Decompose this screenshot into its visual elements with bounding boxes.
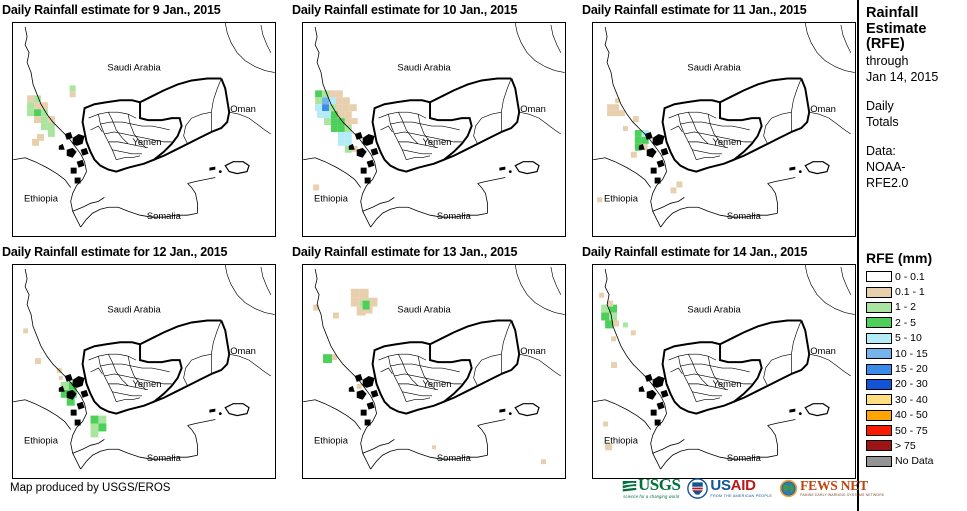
map-frame[interactable]: Saudi Arabia Oman Yemen Ethiopia Somalia xyxy=(592,22,856,237)
legend-swatch xyxy=(866,287,892,298)
label-somalia: Somalia xyxy=(727,452,762,463)
partner-logos: USGS science for a changing world USAID … xyxy=(622,471,884,505)
usaid-logo[interactable]: USAID FROM THE AMERICAN PEOPLE xyxy=(687,473,772,503)
label-oman: Oman xyxy=(230,345,256,356)
legend-label: No Data xyxy=(895,455,934,467)
map-frame[interactable]: Saudi Arabia Oman Yemen Ethiopia Somalia xyxy=(12,22,276,237)
legend-title: RFE (mm) xyxy=(866,250,962,266)
fews-wordmark: FEWS NET xyxy=(800,479,884,492)
admin-boundaries xyxy=(89,265,275,402)
label-saudi-arabia: Saudi Arabia xyxy=(397,62,451,73)
legend-swatch xyxy=(866,379,892,390)
legend-label: > 75 xyxy=(895,440,916,452)
national-borders xyxy=(373,78,520,171)
legend-swatch xyxy=(866,333,892,344)
info-panel: Rainfall Estimate (RFE) through Jan 14, … xyxy=(866,6,962,191)
legend-label: 5 - 10 xyxy=(895,332,922,344)
legend-swatch xyxy=(866,317,892,328)
info-title-line3: (RFE) xyxy=(866,37,962,53)
globe-icon xyxy=(779,479,798,498)
map-canvas: Saudi Arabia Oman Yemen Ethiopia Somalia xyxy=(593,265,855,478)
label-somalia: Somalia xyxy=(437,210,472,221)
info-through: through xyxy=(866,53,962,69)
info-title-line1: Rainfall xyxy=(866,6,962,22)
panel-title: Daily Rainfall estimate for 14 Jan., 201… xyxy=(580,242,862,262)
legend-item[interactable]: 20 - 30 xyxy=(866,377,962,392)
national-borders xyxy=(83,78,230,171)
map-panel-3: Daily Rainfall estimate for 11 Jan., 201… xyxy=(580,0,862,240)
legend-label: 2 - 5 xyxy=(895,317,916,329)
label-oman: Oman xyxy=(810,103,836,114)
legend-label: 1 - 2 xyxy=(895,301,916,313)
info-totals-line2: Totals xyxy=(866,114,962,130)
legend-swatch xyxy=(866,364,892,375)
legend-item[interactable]: 15 - 20 xyxy=(866,361,962,376)
label-saudi-arabia: Saudi Arabia xyxy=(687,62,741,73)
fews-net-logo[interactable]: FEWS NET FAMINE EARLY WARNING SYSTEMS NE… xyxy=(779,473,884,503)
label-oman: Oman xyxy=(520,103,546,114)
map-canvas: Saudi Arabia Oman Yemen Ethiopia Somalia xyxy=(13,265,275,478)
legend-label: 50 - 75 xyxy=(895,425,928,437)
panel-title: Daily Rainfall estimate for 13 Jan., 201… xyxy=(290,242,572,262)
map-frame[interactable]: Saudi Arabia Oman Yemen Ethiopia Somalia xyxy=(302,264,566,479)
legend-item[interactable]: 0.1 - 1 xyxy=(866,284,962,299)
info-data-line3: RFE2.0 xyxy=(866,175,962,191)
legend: RFE (mm) 0 - 0.10.1 - 11 - 22 - 55 - 101… xyxy=(866,250,962,469)
footer-credit: Map produced by USGS/EROS xyxy=(10,482,170,494)
label-yemen: Yemen xyxy=(422,136,451,147)
admin-boundaries xyxy=(379,23,565,160)
islands xyxy=(499,404,539,416)
info-data-line1: Data: xyxy=(866,143,962,159)
legend-item[interactable]: 5 - 10 xyxy=(866,331,962,346)
rainfall-cells xyxy=(313,289,546,464)
legend-label: 20 - 30 xyxy=(895,378,928,390)
info-through-date: Jan 14, 2015 xyxy=(866,69,962,85)
admin-boundaries xyxy=(379,265,565,402)
legend-item[interactable]: 0 - 0.1 xyxy=(866,269,962,284)
panel-title: Daily Rainfall estimate for 10 Jan., 201… xyxy=(290,0,572,20)
label-yemen: Yemen xyxy=(422,378,451,389)
map-frame[interactable]: Saudi Arabia Oman Yemen Ethiopia Somalia xyxy=(12,264,276,479)
legend-item[interactable]: 10 - 15 xyxy=(866,346,962,361)
label-somalia: Somalia xyxy=(727,210,762,221)
panel-title: Daily Rainfall estimate for 12 Jan., 201… xyxy=(0,242,282,262)
legend-label: 40 - 50 xyxy=(895,409,928,421)
map-frame[interactable]: Saudi Arabia Oman Yemen Ethiopia Somalia xyxy=(302,22,566,237)
legend-item[interactable]: 30 - 40 xyxy=(866,392,962,407)
national-borders xyxy=(373,320,520,413)
legend-label: 0 - 0.1 xyxy=(895,271,925,283)
label-oman: Oman xyxy=(810,345,836,356)
panel-title: Daily Rainfall estimate for 11 Jan., 201… xyxy=(580,0,862,20)
label-saudi-arabia: Saudi Arabia xyxy=(107,62,161,73)
label-ethiopia: Ethiopia xyxy=(24,434,59,445)
national-borders xyxy=(663,78,810,171)
country-labels: Saudi Arabia Oman Yemen Ethiopia Somalia xyxy=(604,304,836,464)
label-ethiopia: Ethiopia xyxy=(314,434,349,445)
legend-swatch xyxy=(866,394,892,405)
label-yemen: Yemen xyxy=(712,136,741,147)
islands xyxy=(209,404,249,416)
national-borders xyxy=(83,320,230,413)
map-canvas: Saudi Arabia Oman Yemen Ethiopia Somalia xyxy=(593,23,855,236)
legend-item[interactable]: 1 - 2 xyxy=(866,300,962,315)
legend-swatch xyxy=(866,348,892,359)
legend-label: 15 - 20 xyxy=(895,363,928,375)
map-panel-5: Daily Rainfall estimate for 13 Jan., 201… xyxy=(290,242,572,482)
label-oman: Oman xyxy=(520,345,546,356)
label-ethiopia: Ethiopia xyxy=(604,192,639,203)
info-title-line2: Estimate xyxy=(866,22,962,38)
label-ethiopia: Ethiopia xyxy=(24,192,59,203)
label-ethiopia: Ethiopia xyxy=(604,434,639,445)
islands xyxy=(789,404,829,416)
country-labels: Saudi Arabia Oman Yemen Ethiopia Somalia xyxy=(24,62,256,222)
map-frame[interactable]: Saudi Arabia Oman Yemen Ethiopia Somalia xyxy=(592,264,856,479)
legend-label: 30 - 40 xyxy=(895,394,928,406)
map-panel-4: Daily Rainfall estimate for 12 Jan., 201… xyxy=(0,242,282,482)
rainfall-cells xyxy=(599,293,636,451)
usgs-wave-icon xyxy=(622,478,637,493)
legend-label: 10 - 15 xyxy=(895,348,928,360)
legend-item[interactable]: 50 - 75 xyxy=(866,423,962,438)
admin-boundaries xyxy=(89,23,275,160)
map-panel-6: Daily Rainfall estimate for 14 Jan., 201… xyxy=(580,242,862,482)
admin-boundaries xyxy=(669,265,855,402)
legend-item[interactable]: 40 - 50 xyxy=(866,408,962,423)
legend-swatch xyxy=(866,410,892,421)
legend-rows: 0 - 0.10.1 - 11 - 22 - 55 - 1010 - 1515 … xyxy=(866,269,962,469)
label-yemen: Yemen xyxy=(132,378,161,389)
usaid-tagline: FROM THE AMERICAN PEOPLE xyxy=(710,494,772,498)
label-saudi-arabia: Saudi Arabia xyxy=(107,304,161,315)
label-saudi-arabia: Saudi Arabia xyxy=(397,304,451,315)
legend-swatch xyxy=(866,425,892,436)
usgs-logo[interactable]: USGS science for a changing world xyxy=(622,473,680,503)
usgs-wordmark: USGS xyxy=(638,477,680,493)
label-oman: Oman xyxy=(230,103,256,114)
usaid-seal-icon xyxy=(687,478,708,499)
rainfall-cells xyxy=(313,90,358,190)
legend-swatch xyxy=(866,456,892,467)
legend-label: 0.1 - 1 xyxy=(895,286,925,298)
country-labels: Saudi Arabia Oman Yemen Ethiopia Somalia xyxy=(24,304,256,464)
map-canvas: Saudi Arabia Oman Yemen Ethiopia Somalia xyxy=(303,265,565,478)
label-somalia: Somalia xyxy=(147,452,182,463)
usgs-tagline: science for a changing world xyxy=(623,494,679,499)
map-panel-1: Daily Rainfall estimate for 9 Jan., 2015 xyxy=(0,0,282,240)
map-canvas: Saudi Arabia Oman Yemen Ethiopia Somalia xyxy=(13,23,275,236)
info-data-line2: NOAA- xyxy=(866,159,962,175)
legend-swatch xyxy=(866,302,892,313)
legend-swatch xyxy=(866,271,892,282)
map-canvas: Saudi Arabia Oman Yemen Ethiopia Somalia xyxy=(303,23,565,236)
islands xyxy=(789,162,829,174)
islands xyxy=(499,162,539,174)
fews-tagline: FAMINE EARLY WARNING SYSTEMS NETWORK xyxy=(800,493,884,497)
admin-boundaries xyxy=(669,23,855,160)
legend-item[interactable]: > 75 xyxy=(866,438,962,453)
legend-item[interactable]: No Data xyxy=(866,454,962,469)
legend-item[interactable]: 2 - 5 xyxy=(866,315,962,330)
label-yemen: Yemen xyxy=(132,136,161,147)
country-labels: Saudi Arabia Oman Yemen Ethiopia Somalia xyxy=(314,304,546,464)
info-totals-line1: Daily xyxy=(866,98,962,114)
label-ethiopia: Ethiopia xyxy=(314,192,349,203)
vertical-divider xyxy=(857,0,859,511)
label-somalia: Somalia xyxy=(437,452,472,463)
panel-title: Daily Rainfall estimate for 9 Jan., 2015 xyxy=(0,0,282,20)
label-saudi-arabia: Saudi Arabia xyxy=(687,304,741,315)
usaid-wordmark: USAID xyxy=(710,479,772,493)
label-somalia: Somalia xyxy=(147,210,182,221)
islands xyxy=(209,162,249,174)
label-yemen: Yemen xyxy=(712,378,741,389)
legend-swatch xyxy=(866,440,892,451)
national-borders xyxy=(663,320,810,413)
map-panel-2: Daily Rainfall estimate for 10 Jan., 201… xyxy=(290,0,572,240)
